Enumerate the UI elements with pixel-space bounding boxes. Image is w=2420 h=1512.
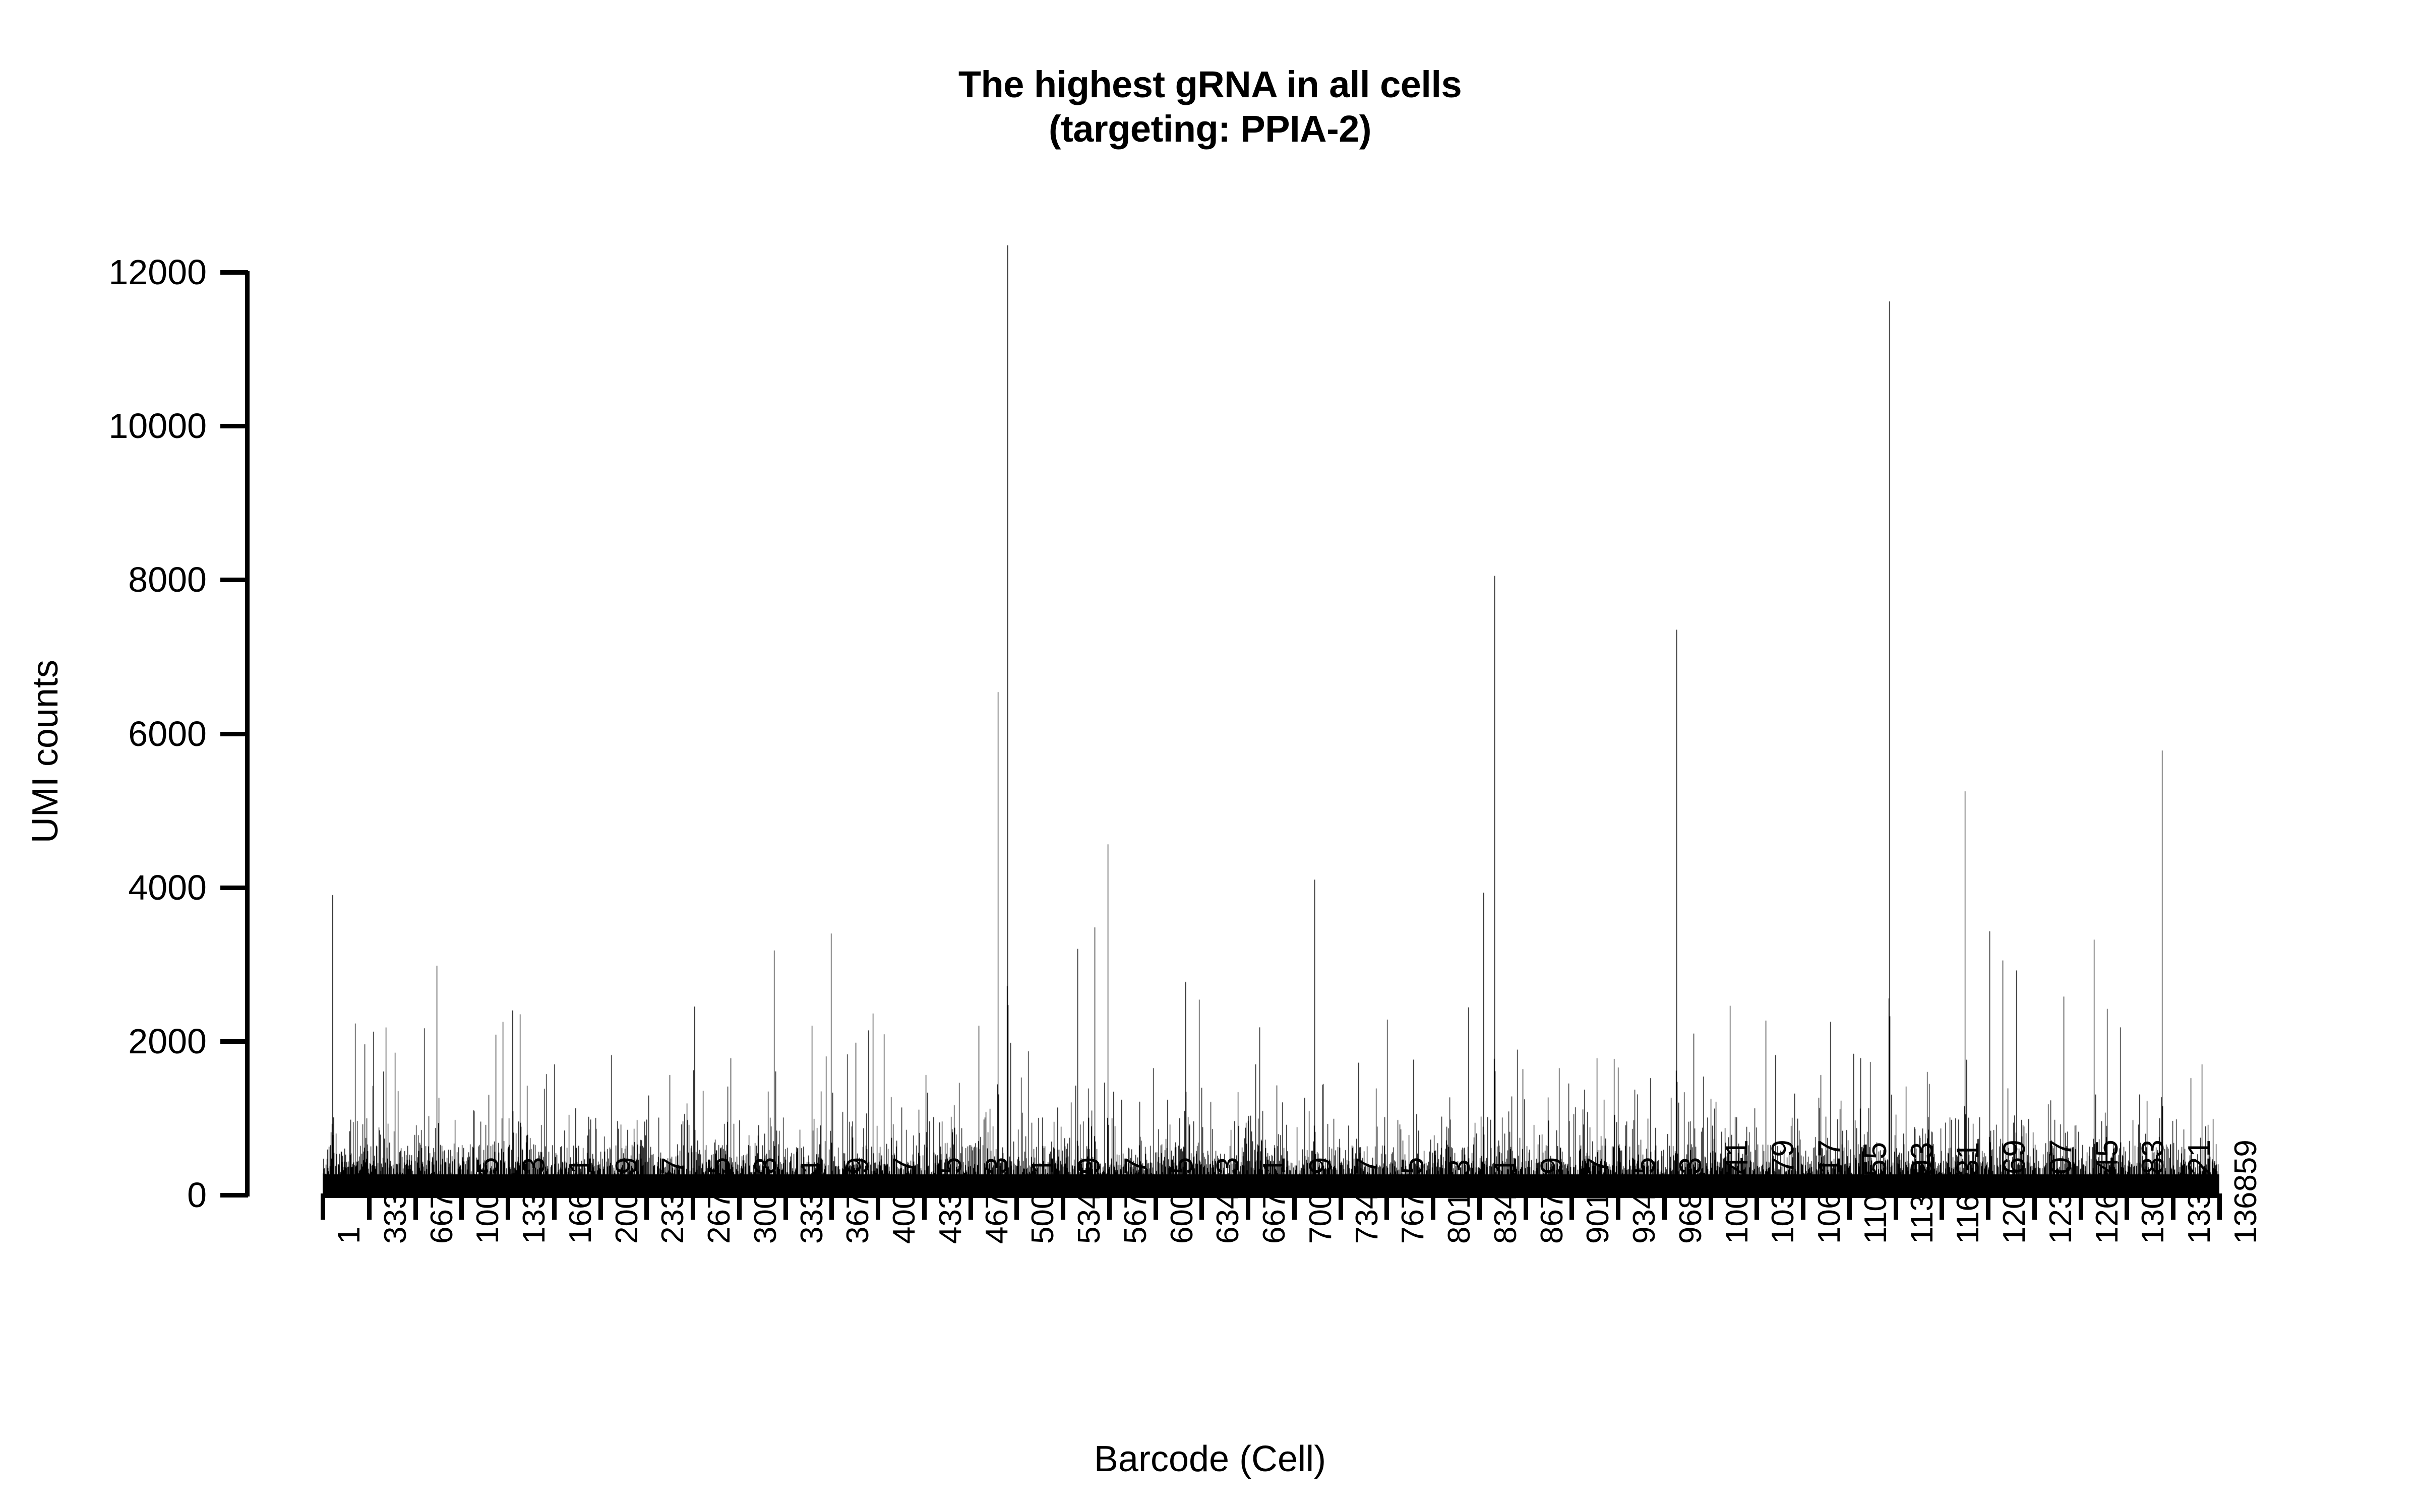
x-tick-mark (1384, 1193, 1389, 1220)
x-tick-mark (506, 1193, 510, 1220)
x-tick-mark (1894, 1193, 1898, 1220)
y-tick-label: 2000 (0, 1024, 207, 1059)
plot-area (323, 237, 2219, 1195)
x-tick-mark (1199, 1193, 1204, 1220)
x-tick-mark (2217, 1193, 2222, 1220)
y-tick-label: 6000 (0, 716, 207, 751)
x-tick-mark (1616, 1193, 1620, 1220)
x-tick-mark (367, 1193, 372, 1220)
x-tick-label: 136859 (2230, 1140, 2262, 1244)
y-tick-label: 12000 (0, 255, 207, 290)
y-tick-mark (220, 886, 248, 890)
x-tick-mark (922, 1193, 927, 1220)
x-axis-title: Barcode (Cell) (0, 1439, 2420, 1479)
x-tick-mark (1940, 1193, 1944, 1220)
x-tick-mark (644, 1193, 649, 1220)
x-tick-mark (1847, 1193, 1852, 1220)
x-tick-mark (969, 1193, 973, 1220)
x-tick-mark (1801, 1193, 1805, 1220)
x-tick-mark (459, 1193, 464, 1220)
x-tick-mark (1339, 1193, 1343, 1220)
x-tick-mark (737, 1193, 742, 1220)
x-tick-mark (876, 1193, 880, 1220)
chart-root: The highest gRNA in all cells (targeting… (0, 0, 2420, 1512)
x-tick-mark (1986, 1193, 1990, 1220)
x-tick-mark (321, 1193, 325, 1220)
x-tick-mark (1477, 1193, 1482, 1220)
bar-series (323, 237, 2219, 1195)
x-tick-label: 1 (334, 1227, 365, 1244)
x-tick-mark (2171, 1193, 2175, 1220)
x-tick-mark (1061, 1193, 1065, 1220)
x-tick-mark (1431, 1193, 1435, 1220)
y-tick-mark (220, 1193, 248, 1198)
x-tick-mark (2079, 1193, 2083, 1220)
y-tick-mark (220, 424, 248, 428)
y-tick-mark (220, 578, 248, 582)
x-tick-mark (829, 1193, 834, 1220)
x-tick-mark (1524, 1193, 1528, 1220)
x-tick-mark (2032, 1193, 2037, 1220)
x-tick-mark (1709, 1193, 1713, 1220)
x-tick-mark (1246, 1193, 1250, 1220)
chart-title: The highest gRNA in all cells (targeting… (0, 62, 2420, 151)
x-tick-mark (691, 1193, 695, 1220)
x-tick-mark (413, 1193, 418, 1220)
x-tick-mark (1107, 1193, 1112, 1220)
x-tick-mark (1014, 1193, 1019, 1220)
y-tick-label: 0 (0, 1177, 207, 1213)
y-tick-label: 8000 (0, 562, 207, 597)
x-tick-mark (1154, 1193, 1158, 1220)
y-tick-mark (220, 1039, 248, 1044)
chart-title-line-2: (targeting: PPIA-2) (0, 107, 2420, 151)
x-tick-mark (1662, 1193, 1667, 1220)
y-tick-label: 4000 (0, 870, 207, 905)
y-tick-mark (220, 732, 248, 736)
x-tick-mark (1754, 1193, 1759, 1220)
x-tick-mark (783, 1193, 788, 1220)
x-tick-mark (598, 1193, 603, 1220)
x-tick-mark (2125, 1193, 2129, 1220)
y-tick-mark (220, 270, 248, 275)
x-tick-mark (552, 1193, 557, 1220)
y-axis-title: UMI counts (27, 600, 64, 903)
chart-title-line-1: The highest gRNA in all cells (0, 62, 2420, 107)
x-tick-mark (1569, 1193, 1574, 1220)
x-tick-mark (1292, 1193, 1297, 1220)
y-tick-label: 10000 (0, 408, 207, 444)
